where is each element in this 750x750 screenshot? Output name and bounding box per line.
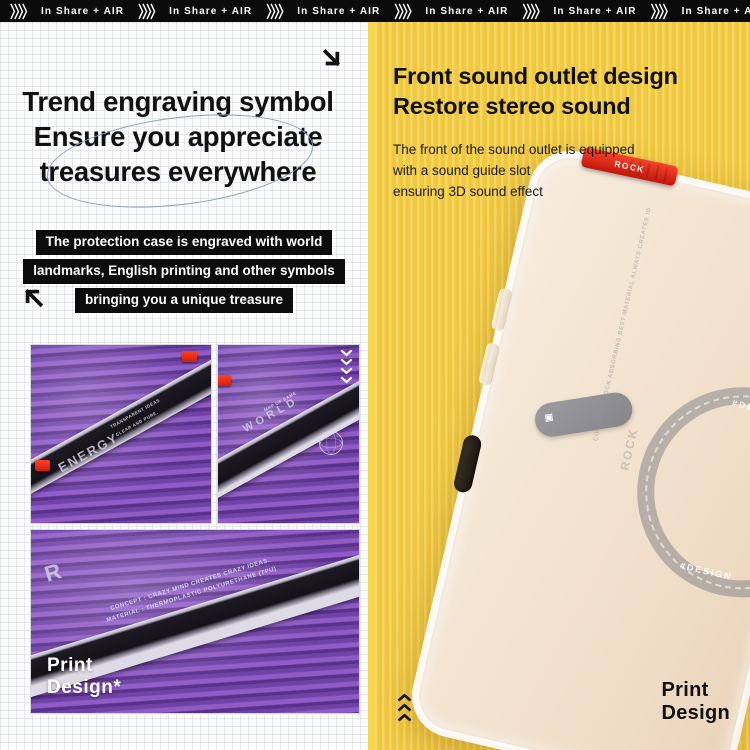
print-footer-line-2: Design: [662, 702, 730, 726]
marquee-unit: 〉〉〉〉In Share + AIR: [134, 3, 262, 20]
print-overlay-line-1: Print: [47, 655, 121, 677]
globe-icon: [319, 431, 343, 455]
marquee-unit: 〉〉〉〉In Share + AIR: [262, 3, 390, 20]
chevron-up-icon: [397, 713, 412, 722]
marquee-label: In Share + AIR: [41, 6, 124, 17]
arrow-down-right-icon: [320, 44, 346, 70]
magsafe-label-bottom: #DESIGN: [679, 560, 733, 582]
print-design-footer: Print Design: [662, 679, 730, 726]
left-heading-line-2: Ensure you appreciate: [0, 119, 356, 154]
vertical-divider: [368, 22, 375, 750]
marquee-unit: 〉〉〉〉In Share + AIR: [6, 3, 134, 20]
product-marketing-page: 〉〉〉〉In Share + AIR〉〉〉〉In Share + AIR〉〉〉〉…: [0, 0, 750, 750]
marquee-chevron-icon: 〉〉〉〉: [523, 0, 545, 22]
chevron-down-icon: [340, 367, 353, 375]
chevron-down-icon: [340, 358, 353, 366]
left-heading: Trend engraving symbol Ensure you apprec…: [0, 84, 356, 190]
product-photo-world[interactable]: WORLD MAP OF SAME: [217, 344, 360, 524]
chevron-down-icon: [340, 349, 353, 357]
marquee-label: In Share + AIR: [425, 6, 508, 17]
print-overlay-line-2: Design*: [47, 677, 121, 699]
marquee-label: In Share + AIR: [297, 6, 380, 17]
marquee-chevron-icon: 〉〉〉〉: [266, 0, 288, 22]
chevron-up-icon: [397, 693, 412, 702]
right-subtext-line-3: ensuring 3D sound effect: [393, 182, 635, 203]
marquee-label: In Share + AIR: [682, 6, 750, 17]
marquee-chevron-icon: 〉〉〉〉: [651, 0, 673, 22]
marquee-chevron-icon: 〉〉〉〉: [394, 0, 416, 22]
right-heading: Front sound outlet design Restore stereo…: [393, 62, 678, 121]
marquee-chevron-icon: 〉〉〉〉: [10, 0, 32, 22]
marquee-unit: 〉〉〉〉In Share + AIR: [647, 3, 750, 20]
marquee-label: In Share + AIR: [554, 6, 637, 17]
product-photo-gallery: ENERGY TRANSPARENT IDEAS CLEAR AND PURE.…: [30, 344, 360, 714]
red-button-accent: [217, 375, 231, 386]
chevron-up-icon: [397, 703, 412, 712]
chevron-down-icon: [340, 376, 353, 384]
chevron-stack-down: [340, 349, 353, 384]
marquee-chevron-icon: 〉〉〉〉: [138, 0, 160, 22]
print-design-overlay: Print Design*: [47, 655, 121, 699]
red-button-accent: [182, 351, 197, 362]
marquee-unit: 〉〉〉〉In Share + AIR: [519, 3, 647, 20]
right-heading-line-1: Front sound outlet design: [393, 62, 678, 92]
marquee-track: 〉〉〉〉In Share + AIR〉〉〉〉In Share + AIR〉〉〉〉…: [0, 3, 750, 20]
right-subtext-line-2: with a sound guide slot: [393, 161, 635, 182]
left-heading-line-1: Trend engraving symbol: [0, 84, 356, 119]
chevron-stack-up: [397, 693, 412, 722]
red-button-accent: [35, 460, 50, 471]
left-caption-group: The protection case is engraved with wor…: [0, 230, 368, 313]
caption-bar: landmarks, English printing and other sy…: [23, 259, 345, 284]
right-subtext-line-1: The front of the sound outlet is equippe…: [393, 140, 635, 161]
print-footer-line-1: Print: [662, 679, 730, 703]
left-panel: Trend engraving symbol Ensure you apprec…: [0, 22, 368, 750]
product-photo-print-design[interactable]: R CONCEPT : CRAZY MIND CREATES CRAZY IDE…: [30, 529, 360, 714]
magsafe-label-top: #DEEP: [731, 398, 750, 417]
marquee-label: In Share + AIR: [169, 6, 252, 17]
right-heading-line-2: Restore stereo sound: [393, 92, 678, 122]
caption-bar: bringing you a unique treasure: [75, 288, 293, 313]
left-heading-line-3: treasures everywhere: [0, 154, 356, 189]
right-subtext: The front of the sound outlet is equippe…: [393, 140, 635, 203]
marquee-unit: 〉〉〉〉In Share + AIR: [390, 3, 518, 20]
mag-icon: ▣: [544, 412, 554, 424]
caption-bar: The protection case is engraved with wor…: [36, 230, 333, 255]
top-marquee-banner: 〉〉〉〉In Share + AIR〉〉〉〉In Share + AIR〉〉〉〉…: [0, 0, 750, 22]
photo-row-top: ENERGY TRANSPARENT IDEAS CLEAR AND PURE.…: [30, 344, 360, 524]
phone-case-product-render[interactable]: ROCK #DEEP #DESIGN ▣ CONTAINS SHOCK ABSO…: [404, 143, 750, 750]
product-photo-energy[interactable]: ENERGY TRANSPARENT IDEAS CLEAR AND PURE.: [30, 344, 212, 524]
right-panel: Front sound outlet design Restore stereo…: [375, 22, 750, 750]
